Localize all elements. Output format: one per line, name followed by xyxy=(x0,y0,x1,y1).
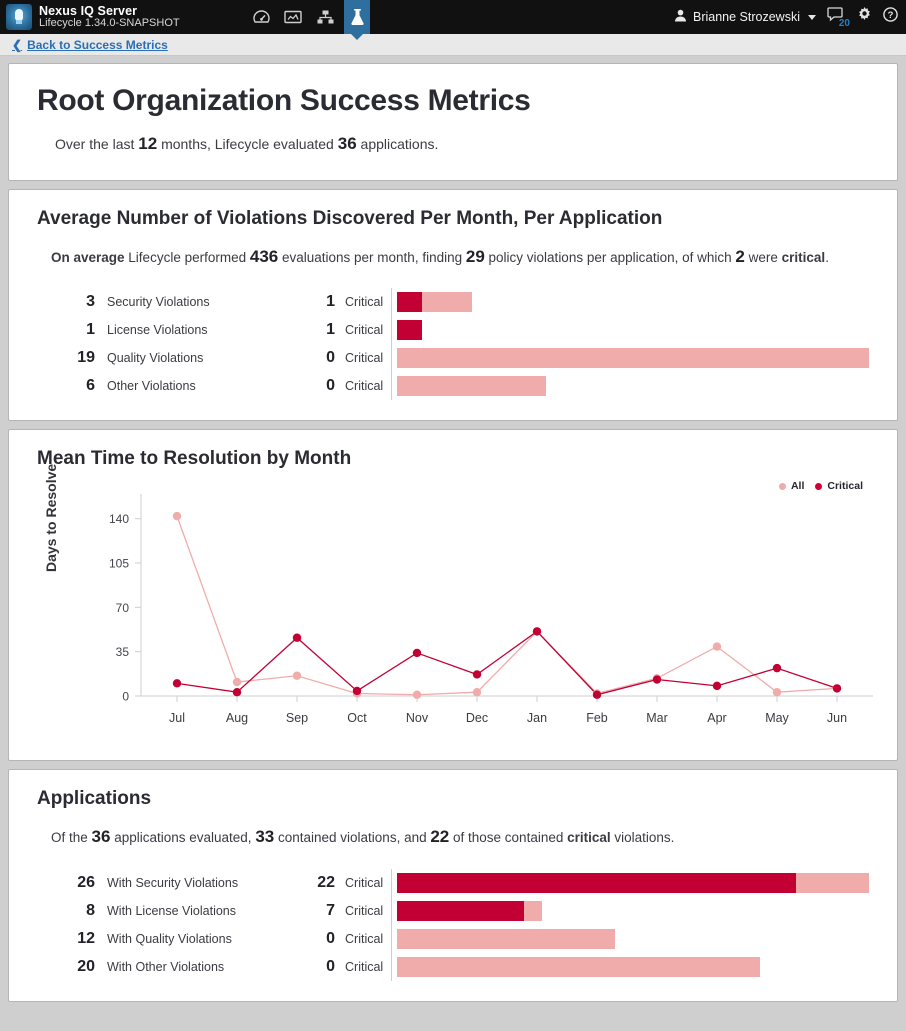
apps-sub-critical-word: critical xyxy=(567,830,611,845)
row-critical-value: 0 xyxy=(291,377,335,395)
dashboard-icon xyxy=(253,10,270,24)
applications-summary-text: Of the 36 applications evaluated, 33 con… xyxy=(37,824,869,850)
x-axis-tick-label: Apr xyxy=(707,711,726,725)
data-point-critical[interactable] xyxy=(653,676,661,684)
row-critical-label: Critical xyxy=(335,876,397,890)
bar-segment-all xyxy=(397,376,546,396)
user-avatar-icon xyxy=(674,9,687,25)
row-bar-track xyxy=(397,929,869,949)
data-point-critical[interactable] xyxy=(833,685,841,693)
bar-chart-row[interactable]: 20With Other Violations0Critical xyxy=(51,953,869,981)
row-total-value: 8 xyxy=(51,902,95,920)
question-mark-help-icon: ? xyxy=(883,9,898,26)
row-total-value: 20 xyxy=(51,958,95,976)
row-critical-label: Critical xyxy=(335,932,397,946)
row-bar-track xyxy=(397,320,869,340)
organization-hierarchy-icon xyxy=(317,10,334,24)
y-axis-tick-label: 35 xyxy=(116,646,130,660)
bar-segment-all xyxy=(397,929,615,949)
nav-reports-button[interactable] xyxy=(280,0,306,34)
notifications-count-badge: 20 xyxy=(838,19,851,29)
application-window: Nexus IQ Server Lifecycle 1.34.0-SNAPSHO… xyxy=(0,0,906,1031)
violations-section-title: Average Number of Violations Discovered … xyxy=(37,208,869,230)
row-total-value: 6 xyxy=(51,377,95,395)
x-axis-tick-label: Sep xyxy=(286,711,308,725)
x-axis-tick-label: Oct xyxy=(347,711,367,725)
apps-sub-4: of those contained xyxy=(449,830,567,845)
hero-sub-mid: months, Lifecycle evaluated xyxy=(157,136,338,152)
apps-total-value: 36 xyxy=(92,827,111,846)
bar-segment-all xyxy=(397,348,869,368)
breadcrumb: ❮ Back to Success Metrics xyxy=(0,34,906,56)
row-category-label: Quality Violations xyxy=(95,351,291,365)
row-category-label: With License Violations xyxy=(95,904,291,918)
row-critical-value: 0 xyxy=(291,930,335,948)
violations-policy-value: 29 xyxy=(466,247,485,266)
top-navigation-bar: Nexus IQ Server Lifecycle 1.34.0-SNAPSHO… xyxy=(0,0,906,34)
row-bar-track xyxy=(397,292,869,312)
data-point-critical[interactable] xyxy=(233,688,241,696)
bar-chart-row[interactable]: 6Other Violations0Critical xyxy=(51,372,869,400)
user-name-label: Brianne Strozewski xyxy=(693,10,800,24)
x-axis-tick-label: Jun xyxy=(827,711,847,725)
x-axis-tick-label: Jan xyxy=(527,711,547,725)
row-total-value: 3 xyxy=(51,293,95,311)
violations-critical-value: 2 xyxy=(735,247,744,266)
row-category-label: Other Violations xyxy=(95,379,291,393)
row-critical-label: Critical xyxy=(335,323,397,337)
row-critical-label: Critical xyxy=(335,295,397,309)
bar-segment-critical xyxy=(397,292,422,312)
bar-segment-all xyxy=(422,292,472,312)
y-axis-tick-label: 105 xyxy=(109,557,129,571)
hero-apps-value: 36 xyxy=(338,134,357,153)
nav-organization-button[interactable] xyxy=(312,0,338,34)
mttr-panel: Mean Time to Resolution by Month Days to… xyxy=(8,429,898,761)
page-content: Root Organization Success Metrics Over t… xyxy=(0,57,906,1031)
page-title: Root Organization Success Metrics xyxy=(37,84,869,118)
data-point-critical[interactable] xyxy=(593,691,601,699)
violations-sub-3: policy violations per application, of wh… xyxy=(485,250,736,265)
breadcrumb-label: Back to Success Metrics xyxy=(27,38,168,52)
violations-sub-5: . xyxy=(825,250,829,265)
bar-chart-row[interactable]: 26With Security Violations22Critical xyxy=(51,869,869,897)
help-button[interactable]: ? xyxy=(883,7,898,27)
data-point-all[interactable] xyxy=(233,678,241,686)
nav-labs-button[interactable] xyxy=(344,0,370,34)
row-total-value: 1 xyxy=(51,321,95,339)
data-point-critical[interactable] xyxy=(173,679,181,687)
row-critical-label: Critical xyxy=(335,379,397,393)
violations-sub-4: were xyxy=(745,250,782,265)
data-point-critical[interactable] xyxy=(473,671,481,679)
reports-icon xyxy=(284,10,302,24)
bar-segment-critical xyxy=(397,320,422,340)
data-point-all[interactable] xyxy=(293,672,301,680)
chevron-down-icon xyxy=(808,15,816,20)
x-axis-tick-label: Nov xyxy=(406,711,429,725)
bar-segment-critical xyxy=(397,901,524,921)
bar-segment-critical xyxy=(397,873,796,893)
x-axis-tick-label: May xyxy=(765,711,789,725)
row-bar-track xyxy=(397,957,869,977)
back-to-success-metrics-link[interactable]: ❮ Back to Success Metrics xyxy=(12,38,168,52)
violations-sub-2: evaluations per month, finding xyxy=(278,250,466,265)
hero-months-value: 12 xyxy=(138,134,157,153)
violations-summary-text: On average Lifecycle performed 436 evalu… xyxy=(37,244,869,270)
mttr-section-title: Mean Time to Resolution by Month xyxy=(37,448,869,470)
user-menu-button[interactable]: Brianne Strozewski xyxy=(674,9,816,25)
applications-panel: Applications Of the 36 applications eval… xyxy=(8,769,898,1001)
bar-chart-row[interactable]: 8With License Violations7Critical xyxy=(51,897,869,925)
flask-lab-icon xyxy=(350,9,365,26)
bar-segment-all xyxy=(796,873,869,893)
row-critical-value: 1 xyxy=(291,321,335,339)
violations-sub-critical-word: critical xyxy=(782,250,826,265)
brand-version: Lifecycle 1.34.0-SNAPSHOT xyxy=(39,18,180,30)
row-category-label: With Other Violations xyxy=(95,960,291,974)
row-total-value: 12 xyxy=(51,930,95,948)
bar-chart-row[interactable]: 12With Quality Violations0Critical xyxy=(51,925,869,953)
data-point-all[interactable] xyxy=(173,512,181,520)
bar-chart-row[interactable]: 19Quality Violations0Critical xyxy=(51,344,869,372)
row-bar-track xyxy=(397,376,869,396)
bar-chart-row[interactable]: 1License Violations1Critical xyxy=(51,316,869,344)
data-point-critical[interactable] xyxy=(413,649,421,657)
bar-segment-all xyxy=(397,957,760,977)
chart-axis-line xyxy=(391,869,392,981)
bar-segment-all xyxy=(524,901,542,921)
violations-evaluations-value: 436 xyxy=(250,247,278,266)
x-axis-tick-label: Aug xyxy=(226,711,248,725)
x-axis-tick-label: Mar xyxy=(646,711,668,725)
data-point-all[interactable] xyxy=(413,691,421,699)
data-point-all[interactable] xyxy=(473,688,481,696)
x-axis-tick-label: Feb xyxy=(586,711,608,725)
top-bar-right-controls: Brianne Strozewski 20 xyxy=(674,0,898,34)
main-nav-icons xyxy=(248,0,376,34)
apps-sub-5: violations. xyxy=(611,830,675,845)
violations-bar-chart: 3Security Violations1Critical1License Vi… xyxy=(37,288,869,400)
data-point-critical[interactable] xyxy=(773,664,781,672)
row-bar-track xyxy=(397,873,869,893)
apps-sub-2: applications evaluated, xyxy=(110,830,255,845)
data-point-all[interactable] xyxy=(773,688,781,696)
hero-sub-post: applications. xyxy=(357,136,439,152)
apps-sub-1: Of the xyxy=(51,830,92,845)
apps-with-violations-value: 33 xyxy=(255,827,274,846)
violations-sub-bold: On average xyxy=(51,250,125,265)
data-point-critical[interactable] xyxy=(353,687,361,695)
chevron-left-icon: ❮ xyxy=(12,39,22,51)
x-axis-tick-label: Jul xyxy=(169,711,185,725)
row-critical-value: 7 xyxy=(291,902,335,920)
row-critical-label: Critical xyxy=(335,960,397,974)
hero-subtitle: Over the last 12 months, Lifecycle evalu… xyxy=(37,134,869,154)
apps-with-critical-value: 22 xyxy=(430,827,449,846)
row-category-label: Security Violations xyxy=(95,295,291,309)
row-critical-value: 0 xyxy=(291,958,335,976)
y-axis-tick-label: 70 xyxy=(116,601,130,615)
row-total-value: 19 xyxy=(51,349,95,367)
data-point-critical[interactable] xyxy=(533,628,541,636)
row-critical-value: 1 xyxy=(291,293,335,311)
lightbulb-logo-icon xyxy=(6,4,32,30)
hero-sub-pre: Over the last xyxy=(55,136,138,152)
row-bar-track xyxy=(397,901,869,921)
row-total-value: 26 xyxy=(51,874,95,892)
mean-time-to-resolution-chart: Days to Resolve All Critical 03570105140… xyxy=(37,480,869,748)
y-axis-tick-label: 0 xyxy=(122,690,129,704)
violations-panel: Average Number of Violations Discovered … xyxy=(8,189,898,421)
nav-dashboard-button[interactable] xyxy=(248,0,274,34)
mttr-plot-svg: 03570105140JulAugSepOctNovDecJanFebMarAp… xyxy=(37,480,877,748)
hero-panel: Root Organization Success Metrics Over t… xyxy=(8,63,898,181)
gear-icon xyxy=(857,9,872,26)
data-point-critical[interactable] xyxy=(293,634,301,642)
chart-axis-line xyxy=(391,288,392,400)
y-axis-tick-label: 140 xyxy=(109,513,129,527)
row-critical-value: 22 xyxy=(291,874,335,892)
row-category-label: License Violations xyxy=(95,323,291,337)
data-point-critical[interactable] xyxy=(713,682,721,690)
data-point-all[interactable] xyxy=(713,643,721,651)
applications-section-title: Applications xyxy=(37,788,869,810)
settings-button[interactable] xyxy=(857,7,872,27)
row-critical-label: Critical xyxy=(335,904,397,918)
brand-logo-area[interactable]: Nexus IQ Server Lifecycle 1.34.0-SNAPSHO… xyxy=(0,4,180,30)
x-axis-tick-label: Dec xyxy=(466,711,488,725)
row-category-label: With Security Violations xyxy=(95,876,291,890)
row-critical-label: Critical xyxy=(335,351,397,365)
line-series-all xyxy=(177,516,837,695)
notifications-button[interactable]: 20 xyxy=(827,7,846,27)
row-critical-value: 0 xyxy=(291,349,335,367)
bar-chart-row[interactable]: 3Security Violations1Critical xyxy=(51,288,869,316)
applications-bar-chart: 26With Security Violations22Critical8Wit… xyxy=(37,869,869,981)
apps-sub-3: contained violations, and xyxy=(274,830,430,845)
brand-title: Nexus IQ Server xyxy=(39,5,180,18)
violations-sub-1: Lifecycle performed xyxy=(125,250,250,265)
row-bar-track xyxy=(397,348,869,368)
svg-text:?: ? xyxy=(888,10,894,21)
row-category-label: With Quality Violations xyxy=(95,932,291,946)
